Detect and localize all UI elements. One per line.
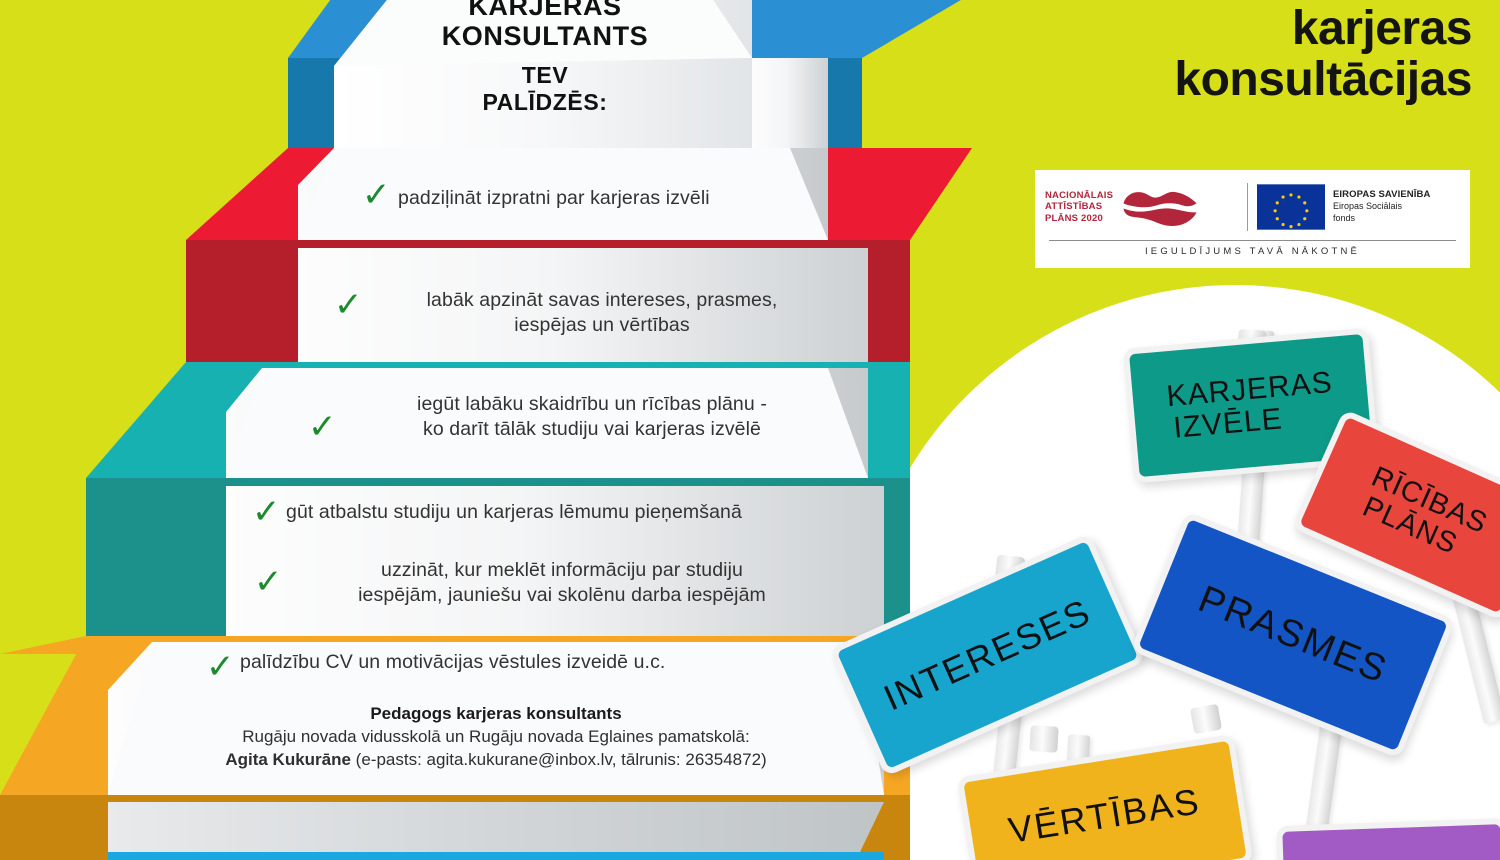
page-title: karjeras konsultācijas xyxy=(1174,4,1472,106)
check-mark-icon: ✓ xyxy=(308,410,337,444)
check-mark-icon: ✓ xyxy=(252,495,281,529)
eu-subtitle-1: Eiropas Sociālais xyxy=(1333,201,1430,213)
step-a-line1: padziļināt izpratni par karjeras izvēli xyxy=(398,186,818,211)
check-mark-icon: ✓ xyxy=(362,178,391,212)
step-red-right-front xyxy=(862,240,910,362)
step-text-row-d1: gūt atbalstu studiju un karjeras lēmumu … xyxy=(286,500,886,525)
step-d2-line1: uzzināt, kur meklēt informāciju par stud… xyxy=(252,558,872,583)
step-text-row-c: iegūt labāku skaidrību un rīcības plānu … xyxy=(342,392,842,442)
eu-text: EIROPAS SAVIENĪBA Eiropas Sociālais fond… xyxy=(1333,189,1430,225)
contact-role: Pedagogs karjeras konsultants xyxy=(108,703,884,726)
pyramid-cap-title: KARJERAS KONSULTANTS xyxy=(360,0,730,51)
sign-ricibas-plans-label: RĪCĪBAS PLĀNS xyxy=(1354,462,1491,568)
contact-person-name: Agita Kukurāne xyxy=(225,750,351,769)
cap-title-line2: KONSULTANTS xyxy=(360,22,730,52)
step-text-row-e: palīdzību CV un motivācijas vēstules izv… xyxy=(240,650,860,675)
nap-line1: NACIONĀLAIS xyxy=(1045,190,1113,202)
eu-flag-icon xyxy=(1257,184,1325,230)
banner-footer-text: IEGULDĪJUMS TAVĀ NĀKOTNĒ xyxy=(1045,241,1460,257)
eu-subtitle-2: fonds xyxy=(1333,213,1430,225)
sign-purple[interactable] xyxy=(1276,818,1500,860)
latvia-map-icon xyxy=(1119,183,1201,231)
step-c-line1: iegūt labāku skaidrību un rīcības plānu … xyxy=(342,392,842,417)
contact-person-details: (e-pasts: agita.kukurane@inbox.lv, tālru… xyxy=(351,750,767,769)
signpost-knob-vertibas xyxy=(1029,725,1058,752)
step-text-row-a: padziļināt izpratni par karjeras izvēli xyxy=(398,186,818,211)
cap-sub-line1: TEV xyxy=(360,62,730,89)
step-red-right-top xyxy=(862,148,972,240)
nap-line3: PLĀNS 2020 xyxy=(1045,213,1113,225)
step-d2-line2: iespējām, jauniešu vai skolēnu darba ies… xyxy=(252,583,872,608)
step-blue-right-top xyxy=(752,0,1012,58)
check-mark-icon: ✓ xyxy=(334,288,363,322)
headline-line1: karjeras xyxy=(1174,4,1472,55)
bottom-plinth xyxy=(108,802,884,852)
national-development-plan-logo: NACIONĀLAIS ATTĪSTĪBAS PLĀNS 2020 xyxy=(1045,183,1245,231)
eu-title: EIROPAS SAVIENĪBA xyxy=(1333,189,1430,201)
eu-funding-banner: NACIONĀLAIS ATTĪSTĪBAS PLĀNS 2020 xyxy=(1035,170,1470,268)
check-mark-icon: ✓ xyxy=(206,650,235,684)
sign-vertibas-label: VĒRTĪBAS xyxy=(1006,782,1204,858)
contact-schools: Rugāju novada vidusskolā un Rugāju novad… xyxy=(108,726,884,749)
contact-block: Pedagogs karjeras konsultants Rugāju nov… xyxy=(108,703,884,771)
step-d1-line1: gūt atbalstu studiju un karjeras lēmumu … xyxy=(286,500,886,525)
step-text-row-d2: uzzināt, kur meklēt informāciju par stud… xyxy=(252,558,872,608)
european-union-logo: EIROPAS SAVIENĪBA Eiropas Sociālais fond… xyxy=(1257,184,1430,230)
cap-title-line1: KARJERAS xyxy=(360,0,730,22)
sign-prasmes-label: PRASMES xyxy=(1193,579,1393,691)
sign-karjeras-izvele-label: KARJERAS IZVĒLE xyxy=(1165,367,1336,445)
headline-line2: konsultācijas xyxy=(1174,55,1472,106)
step-e-line1: palīdzību CV un motivācijas vēstules izv… xyxy=(240,650,860,675)
bottom-accent-strip xyxy=(108,852,884,860)
signpost-knob-prasmes xyxy=(1190,704,1222,734)
banner-logos-row: NACIONĀLAIS ATTĪSTĪBAS PLĀNS 2020 xyxy=(1045,177,1460,237)
poster-canvas: KARJERAS KONSULTANTS TEV PALĪDZĒS: ✓ pad… xyxy=(0,0,1500,860)
step-b-line1: labāk apzināt savas intereses, prasmes, xyxy=(372,288,832,313)
step-text-row-b: labāk apzināt savas intereses, prasmes, … xyxy=(372,288,832,338)
nap-line2: ATTĪSTĪBAS xyxy=(1045,201,1113,213)
nap-text: NACIONĀLAIS ATTĪSTĪBAS PLĀNS 2020 xyxy=(1045,190,1113,225)
cap-sub-line2: PALĪDZĒS: xyxy=(360,89,730,116)
step-b-line2: iespējas un vērtības xyxy=(372,313,832,338)
banner-divider xyxy=(1247,183,1248,231)
step-c-line2: ko darīt tālāk studiju vai karjeras izvē… xyxy=(342,417,842,442)
cap-panel-right xyxy=(752,58,828,148)
pyramid-cap-subtitle: TEV PALĪDZĒS: xyxy=(360,62,730,116)
